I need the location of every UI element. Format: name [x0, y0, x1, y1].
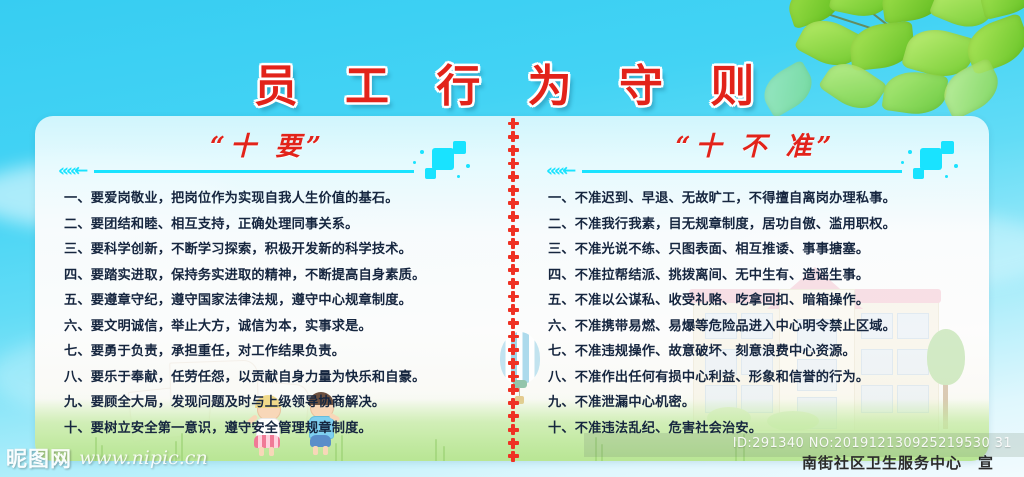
site-watermark: 昵图网 www.nipic.cn: [6, 443, 208, 473]
list-item: 四、不准拉帮结派、挑拨离间、无中生有、造谣生事。: [536, 263, 976, 289]
chevron-left-icon: ««←: [58, 163, 85, 180]
red-cross-icon: [508, 198, 519, 209]
list-item: 一、要爱岗敬业，把岗位作为实现自我人生价值的基石。: [48, 186, 488, 212]
red-cross-icon: [508, 424, 519, 435]
red-cross-icon: [508, 211, 519, 222]
right-rules-list: 一、不准迟到、早退、无故旷工，不得擅自离岗办理私事。 二、不准我行我素，目无规章…: [536, 186, 976, 441]
square-accent-icon: [453, 141, 466, 154]
red-cross-icon: [508, 411, 519, 422]
left-rules-list: 一、要爱岗敬业，把岗位作为实现自我人生价值的基石。 二、要团结和睦、相互支持，正…: [48, 186, 488, 441]
list-item: 七、要勇于负责，承担重任，对工作结果负责。: [48, 339, 488, 365]
red-cross-icon: [508, 371, 519, 382]
red-cross-icon: [508, 225, 519, 236]
right-column: “十 不 准” ««← 一、不准迟到、早退、无故旷工，不得擅自离岗办理私事。 二…: [536, 126, 976, 441]
right-section-header: “十 不 准” ««←: [536, 126, 976, 186]
red-cross-icon: [508, 185, 519, 196]
watermark-id: ID:291340 NO:201912130925219530 31: [733, 436, 1012, 451]
red-cross-icon: [508, 145, 519, 156]
footer-organization: 南街社区卫生服务中心 宣: [802, 452, 994, 473]
list-item: 九、要顾全大局，发现问题及时与上级领导协商解决。: [48, 390, 488, 416]
red-cross-icon: [508, 304, 519, 315]
list-item: 四、要踏实进取，保持务实进取的精神，不断提高自身素质。: [48, 263, 488, 289]
page-title: 员 工 行 为 守 则: [0, 50, 1024, 114]
list-item: 五、要遵章守纪，遵守国家法律法规，遵守中心规章制度。: [48, 288, 488, 314]
list-item: 十、要树立安全第一意识，遵守安全管理规章制度。: [48, 416, 488, 442]
left-column: “十 要” ««← 一、要爱岗敬业，把岗位作为实现自我人生价值的基石。 二、要团…: [48, 126, 488, 441]
list-item: 三、要科学创新，不断学习探索，积极开发新的科学技术。: [48, 237, 488, 263]
red-cross-icon: [508, 318, 519, 329]
list-item: 二、不准我行我素，目无规章制度，居功自傲、滥用职权。: [536, 212, 976, 238]
list-item: 六、要文明诚信，举止大方，诚信为本，实事求是。: [48, 314, 488, 340]
red-cross-icon: [508, 438, 519, 449]
list-item: 八、不准作出任何有损中心利益、形象和信誉的行为。: [536, 365, 976, 391]
arrow-line-decoration: ««←: [58, 158, 470, 180]
red-cross-icon: [508, 264, 519, 275]
red-cross-icon: [508, 384, 519, 395]
red-cross-icon: [508, 398, 519, 409]
red-cross-icon: [508, 291, 519, 302]
red-cross-icon: [508, 331, 519, 342]
list-item: 三、不准光说不练、只图表面、相互推诿、事事搪塞。: [536, 237, 976, 263]
red-cross-icon: [508, 158, 519, 169]
square-accent-icon: [432, 148, 454, 170]
list-item: 七、不准违规操作、故意破坏、刻意浪费中心资源。: [536, 339, 976, 365]
red-cross-icon: [508, 131, 519, 142]
red-cross-icon: [508, 171, 519, 182]
site-logo: 昵图网: [6, 443, 72, 473]
chevron-left-icon: ««←: [546, 163, 573, 180]
red-cross-icon: [508, 118, 519, 129]
square-accent-icon: [425, 168, 436, 179]
square-accent-icon: [941, 141, 954, 154]
red-cross-icon: [508, 278, 519, 289]
site-url: www.nipic.cn: [79, 447, 208, 469]
left-section-header: “十 要” ««←: [48, 126, 488, 186]
square-accent-icon: [913, 168, 924, 179]
poster-canvas: 员 工 行 为 守 则: [0, 0, 1024, 477]
center-divider: [504, 118, 522, 462]
list-item: 二、要团结和睦、相互支持，正确处理同事关系。: [48, 212, 488, 238]
list-item: 六、不准携带易燃、易爆等危险品进入中心明令禁止区域。: [536, 314, 976, 340]
arrow-line-decoration: ««←: [546, 158, 958, 180]
red-cross-icon: [508, 358, 519, 369]
square-accent-icon: [920, 148, 942, 170]
red-cross-icon: [508, 238, 519, 249]
red-cross-icon: [508, 251, 519, 262]
red-cross-icon: [508, 451, 519, 462]
list-item: 九、不准泄漏中心机密。: [536, 390, 976, 416]
red-cross-icon: [508, 344, 519, 355]
list-item: 五、不准以公谋私、收受礼赂、吃拿回扣、暗箱操作。: [536, 288, 976, 314]
list-item: 一、不准迟到、早退、无故旷工，不得擅自离岗办理私事。: [536, 186, 976, 212]
list-item: 八、要乐于奉献，任劳任怨，以贡献自身力量为快乐和自豪。: [48, 365, 488, 391]
